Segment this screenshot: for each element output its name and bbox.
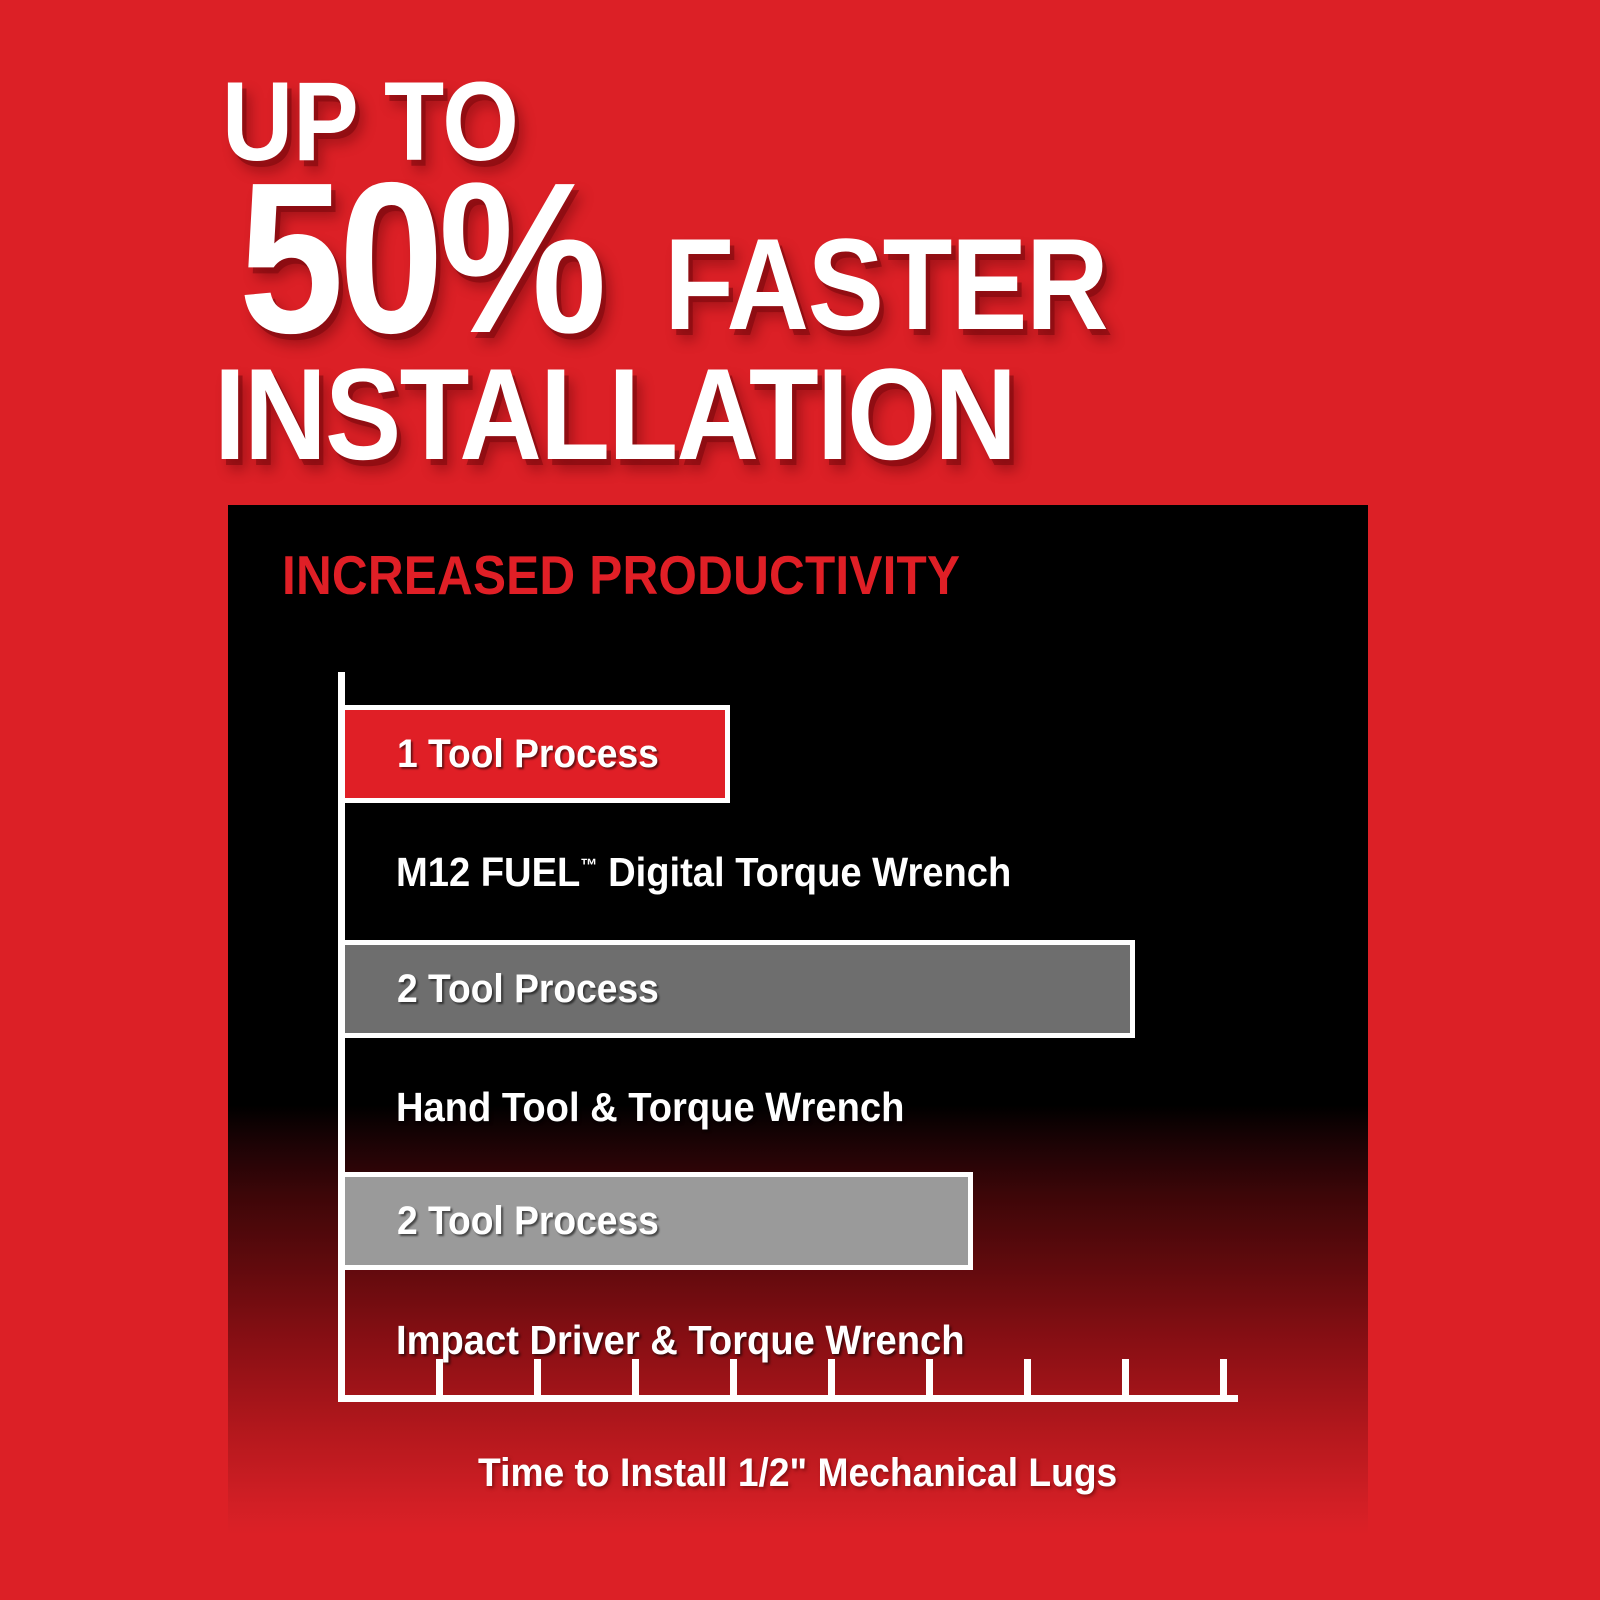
x-axis-tick xyxy=(1220,1359,1227,1395)
headline-percent: 50% xyxy=(239,158,602,358)
plot-area: 1 Tool Process M12 FUEL™ Digital Torque … xyxy=(338,672,1343,1402)
chart-title: INCREASED PRODUCTIVITY xyxy=(282,543,960,607)
x-axis-tick xyxy=(1024,1359,1031,1395)
series-label-suffix: Digital Torque Wrench xyxy=(608,849,1011,895)
bar-label: 1 Tool Process xyxy=(397,732,659,777)
x-axis-tick xyxy=(1122,1359,1129,1395)
bar-label: 2 Tool Process xyxy=(397,967,659,1012)
x-axis-tick xyxy=(828,1359,835,1395)
bar-1-tool-process: 1 Tool Process xyxy=(340,705,730,803)
x-axis-tick xyxy=(534,1359,541,1395)
trademark-symbol: ™ xyxy=(580,854,597,875)
series-label-m12-fuel: M12 FUEL™ Digital Torque Wrench xyxy=(396,849,1011,896)
x-axis-tick xyxy=(632,1359,639,1395)
promo-poster: UP TO 50% FASTER INSTALLATION INCREASED … xyxy=(0,0,1600,1600)
x-axis-tick xyxy=(436,1359,443,1395)
x-axis-tick xyxy=(730,1359,737,1395)
series-label-hand-tool: Hand Tool & Torque Wrench xyxy=(396,1084,904,1131)
series-label-impact-driver: Impact Driver & Torque Wrench xyxy=(396,1317,965,1364)
series-label-text: M12 FUEL xyxy=(396,849,580,895)
headline-line-installation: INSTALLATION xyxy=(214,352,1015,476)
bar-2-tool-process-hand-tool: 2 Tool Process xyxy=(340,940,1135,1038)
x-axis-title-text: Time to Install 1/2" Mechanical Lugs xyxy=(478,1451,1117,1496)
x-axis-title: Time to Install 1/2" Mechanical Lugs xyxy=(228,1451,1368,1496)
bar-label: 2 Tool Process xyxy=(397,1199,659,1244)
chart-panel: INCREASED PRODUCTIVITY 1 Tool Process M1… xyxy=(228,505,1368,1535)
x-axis-tick xyxy=(926,1359,933,1395)
bar-2-tool-process-impact-driver: 2 Tool Process xyxy=(340,1172,973,1270)
x-axis-line xyxy=(338,1395,1238,1402)
